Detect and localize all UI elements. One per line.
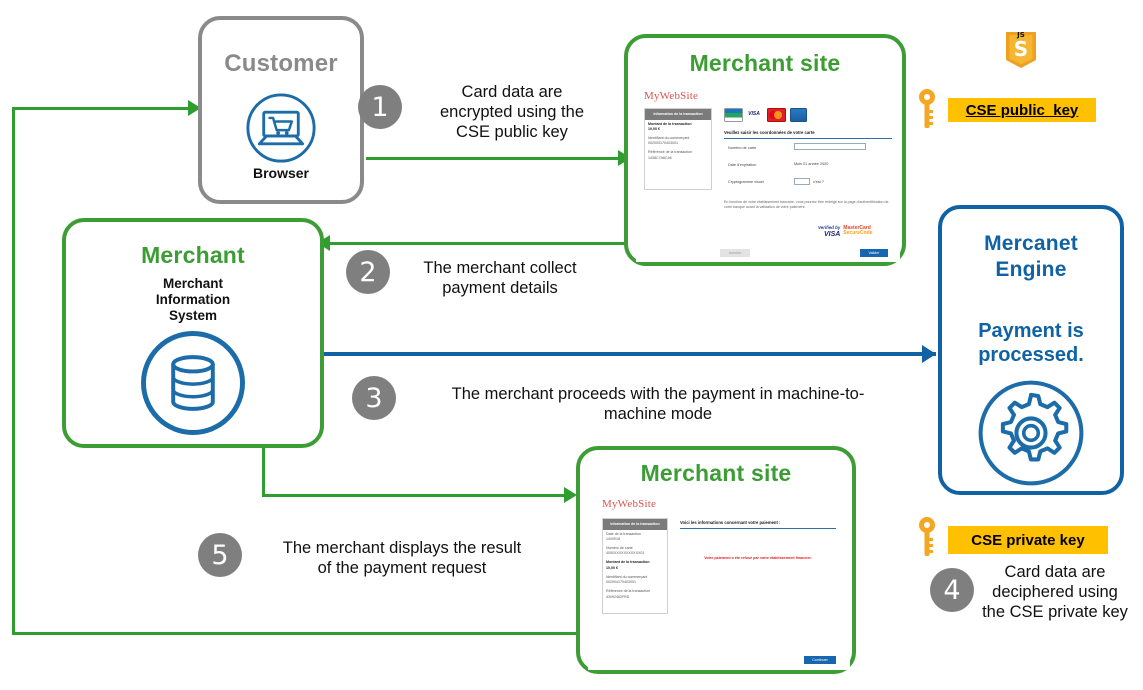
row-label: Référence de la transaction bbox=[606, 589, 650, 593]
row-label: Date de la transaction bbox=[606, 532, 641, 536]
row-value: 14/09/18 bbox=[606, 537, 620, 541]
connector-step5-horiz bbox=[262, 494, 570, 497]
cse-private-key-label: CSE private key bbox=[948, 526, 1108, 554]
row-value: 10,00 € bbox=[648, 127, 660, 131]
transaction-info-row: Référence de la transaction 43092462FRD bbox=[603, 587, 667, 601]
mercanet-status-line-1: Payment is bbox=[942, 319, 1120, 343]
row-label: Montant de la transaction bbox=[648, 122, 692, 126]
customer-title: Customer bbox=[202, 50, 360, 78]
row-value: 1438C7A6C46 bbox=[648, 156, 672, 160]
cb-icon bbox=[724, 108, 743, 122]
row-value: 002004170403001 bbox=[648, 141, 678, 145]
merchant-site-top-box: Merchant site MyWebSite Information de l… bbox=[624, 34, 906, 266]
gear-icon bbox=[975, 377, 1087, 494]
row-value: 002004170403001 bbox=[606, 580, 636, 584]
transaction-info-row: Référence de la transaction 1438C7A6C46 bbox=[645, 148, 711, 162]
mercanet-title-line-2: Engine bbox=[942, 257, 1120, 283]
transaction-info-row: Montant de la transaction 10,00 € bbox=[603, 558, 667, 572]
divider bbox=[680, 528, 836, 529]
merchant-site-bottom-screenshot: MyWebSite Information de la transaction … bbox=[588, 494, 850, 670]
cvv-label: Cryptogramme visuel bbox=[728, 180, 764, 184]
merchant-box: Merchant Merchant Information System bbox=[62, 218, 324, 448]
step-2-line-2: payment details bbox=[402, 278, 598, 298]
verified-by-visa-logo: Verified by bbox=[818, 226, 840, 231]
mercanet-status-line-2: processed. bbox=[942, 343, 1120, 367]
cvv-hint[interactable]: c'est ? bbox=[813, 180, 824, 184]
step-1-line-1: Card data are bbox=[412, 82, 612, 102]
step-badge-2: 2 bbox=[346, 250, 390, 294]
step-text-4: Card data are deciphered using the CSE p… bbox=[972, 562, 1138, 622]
merchant-site-top-title: Merchant site bbox=[628, 50, 902, 77]
mastercard-icon bbox=[767, 108, 786, 122]
expiry-label: Date d'expiration bbox=[728, 163, 756, 167]
step-4-line-2: deciphered using bbox=[972, 582, 1138, 602]
key-icon-private bbox=[918, 516, 936, 563]
step-1-line-2: encrypted using the bbox=[412, 102, 612, 122]
arrow-step3-right bbox=[922, 345, 936, 363]
step-text-1: Card data are encrypted using the CSE pu… bbox=[412, 82, 612, 142]
merchant-subtitle-line-2: Information bbox=[66, 292, 320, 308]
connector-step1 bbox=[366, 157, 624, 160]
javascript-logo: S JS bbox=[1004, 30, 1038, 70]
mercanet-title-line-1: Mercanet bbox=[942, 231, 1120, 257]
mercanet-status: Payment is processed. bbox=[942, 319, 1120, 367]
step-3-line-2: machine mode bbox=[408, 404, 908, 424]
step-5-line-1: The merchant displays the result bbox=[252, 538, 552, 558]
merchant-site-bottom-box: Merchant site MyWebSite Information de l… bbox=[576, 446, 856, 674]
merchant-site-top-screenshot: MyWebSite Information de la transaction … bbox=[636, 86, 900, 262]
card-form-heading-top: Veuillez saisir les coordonnées de votre… bbox=[724, 130, 815, 135]
card-number-input[interactable] bbox=[794, 143, 866, 150]
visa-icon: VISA bbox=[746, 109, 762, 119]
step-4-line-3: the CSE private key bbox=[972, 602, 1138, 622]
security-logos-top: Verified by VISA MasterCard SecureCode bbox=[818, 226, 890, 238]
bank-redirect-notice: En fonction de votre établissement banca… bbox=[724, 200, 890, 211]
step-badge-5: 5 bbox=[198, 533, 242, 577]
mercanet-title: Mercanet Engine bbox=[942, 231, 1120, 282]
transaction-info-panel-top: Information de la transaction Montant de… bbox=[644, 108, 712, 190]
row-label: Numéro de carte bbox=[606, 546, 633, 550]
expiry-value[interactable]: Mois 01 année 2020 bbox=[794, 162, 828, 166]
customer-box: Customer Browser bbox=[198, 16, 364, 204]
card-number-label: Numéro de carte bbox=[728, 146, 756, 150]
transaction-info-panel-bottom: Information de la transaction Date de la… bbox=[602, 518, 668, 614]
payment-refused-message: Votre paiement a été refusé par votre ét… bbox=[680, 556, 836, 560]
merchant-subtitle: Merchant Information System bbox=[66, 276, 320, 324]
step-badge-4: 4 bbox=[930, 568, 974, 612]
connector-step3 bbox=[318, 352, 936, 356]
result-heading: Voici les informations concernant votre … bbox=[680, 520, 780, 525]
transaction-info-row: Identifiant du commerçant 00200417040300… bbox=[645, 134, 711, 148]
step-text-3: The merchant proceeds with the payment i… bbox=[408, 384, 908, 424]
svg-text:S: S bbox=[1014, 37, 1028, 61]
browser-cart-icon bbox=[245, 92, 317, 169]
cse-public-key-label: CSE public_key bbox=[948, 98, 1096, 122]
database-icon bbox=[138, 328, 248, 443]
row-label: Montant de la transaction bbox=[606, 560, 650, 564]
continue-button[interactable]: Continuer bbox=[804, 656, 836, 664]
step-text-5: The merchant displays the result of the … bbox=[252, 538, 552, 578]
step-5-line-2: of the payment request bbox=[252, 558, 552, 578]
submit-button-top[interactable]: Valider bbox=[860, 249, 888, 257]
mywebsite-logo-bottom: MyWebSite bbox=[602, 498, 656, 510]
row-value: 4000XXXXXXXXXXX01 bbox=[606, 551, 644, 555]
step-badge-3: 3 bbox=[352, 376, 396, 420]
divider bbox=[724, 138, 892, 139]
transaction-info-row: Date de la transaction 14/09/18 bbox=[603, 530, 667, 544]
step-text-2: The merchant collect payment details bbox=[402, 258, 598, 298]
transaction-info-row: Identifiant du commerçant 00200417040300… bbox=[603, 573, 667, 587]
cancel-button-top[interactable]: Annuler bbox=[720, 249, 750, 257]
step-2-line-1: The merchant collect bbox=[402, 258, 598, 278]
connector-return-left bbox=[12, 107, 15, 635]
svg-text:JS: JS bbox=[1016, 31, 1025, 39]
transaction-info-row: Numéro de carte 4000XXXXXXXXXXX01 bbox=[603, 544, 667, 558]
step-badge-1: 1 bbox=[358, 85, 402, 129]
transaction-info-row: Montant de la transaction 10,00 € bbox=[645, 120, 711, 134]
key-icon-public bbox=[918, 88, 936, 135]
step-4-line-1: Card data are bbox=[972, 562, 1138, 582]
row-value: 43092462FRD bbox=[606, 595, 629, 599]
row-label: Identifiant du commerçant bbox=[648, 136, 689, 140]
diagram-canvas: Customer Browser Merchant Merchant Infor… bbox=[0, 0, 1143, 690]
connector-step5-vert bbox=[262, 447, 265, 497]
mercanet-engine-box: Mercanet Engine Payment is processed. bbox=[938, 205, 1124, 495]
merchant-title: Merchant bbox=[66, 242, 320, 269]
connector-return-top bbox=[12, 107, 192, 110]
transaction-info-header-top: Information de la transaction bbox=[645, 109, 711, 120]
amex-icon bbox=[790, 108, 807, 122]
step-3-line-1: The merchant proceeds with the payment i… bbox=[408, 384, 908, 404]
connector-step2 bbox=[324, 242, 624, 245]
merchant-subtitle-line-3: System bbox=[66, 308, 320, 324]
browser-caption: Browser bbox=[202, 165, 360, 182]
transaction-info-header-bottom: Information de la transaction bbox=[603, 519, 667, 530]
merchant-subtitle-line-1: Merchant bbox=[66, 276, 320, 292]
row-value: 10,00 € bbox=[606, 566, 618, 570]
row-label: Référence de la transaction bbox=[648, 150, 692, 154]
step-1-line-3: CSE public key bbox=[412, 122, 612, 142]
row-label: Identifiant du commerçant bbox=[606, 575, 647, 579]
mywebsite-logo-top: MyWebSite bbox=[644, 90, 698, 102]
merchant-site-bottom-title: Merchant site bbox=[580, 460, 852, 487]
cvv-input[interactable] bbox=[794, 178, 810, 185]
